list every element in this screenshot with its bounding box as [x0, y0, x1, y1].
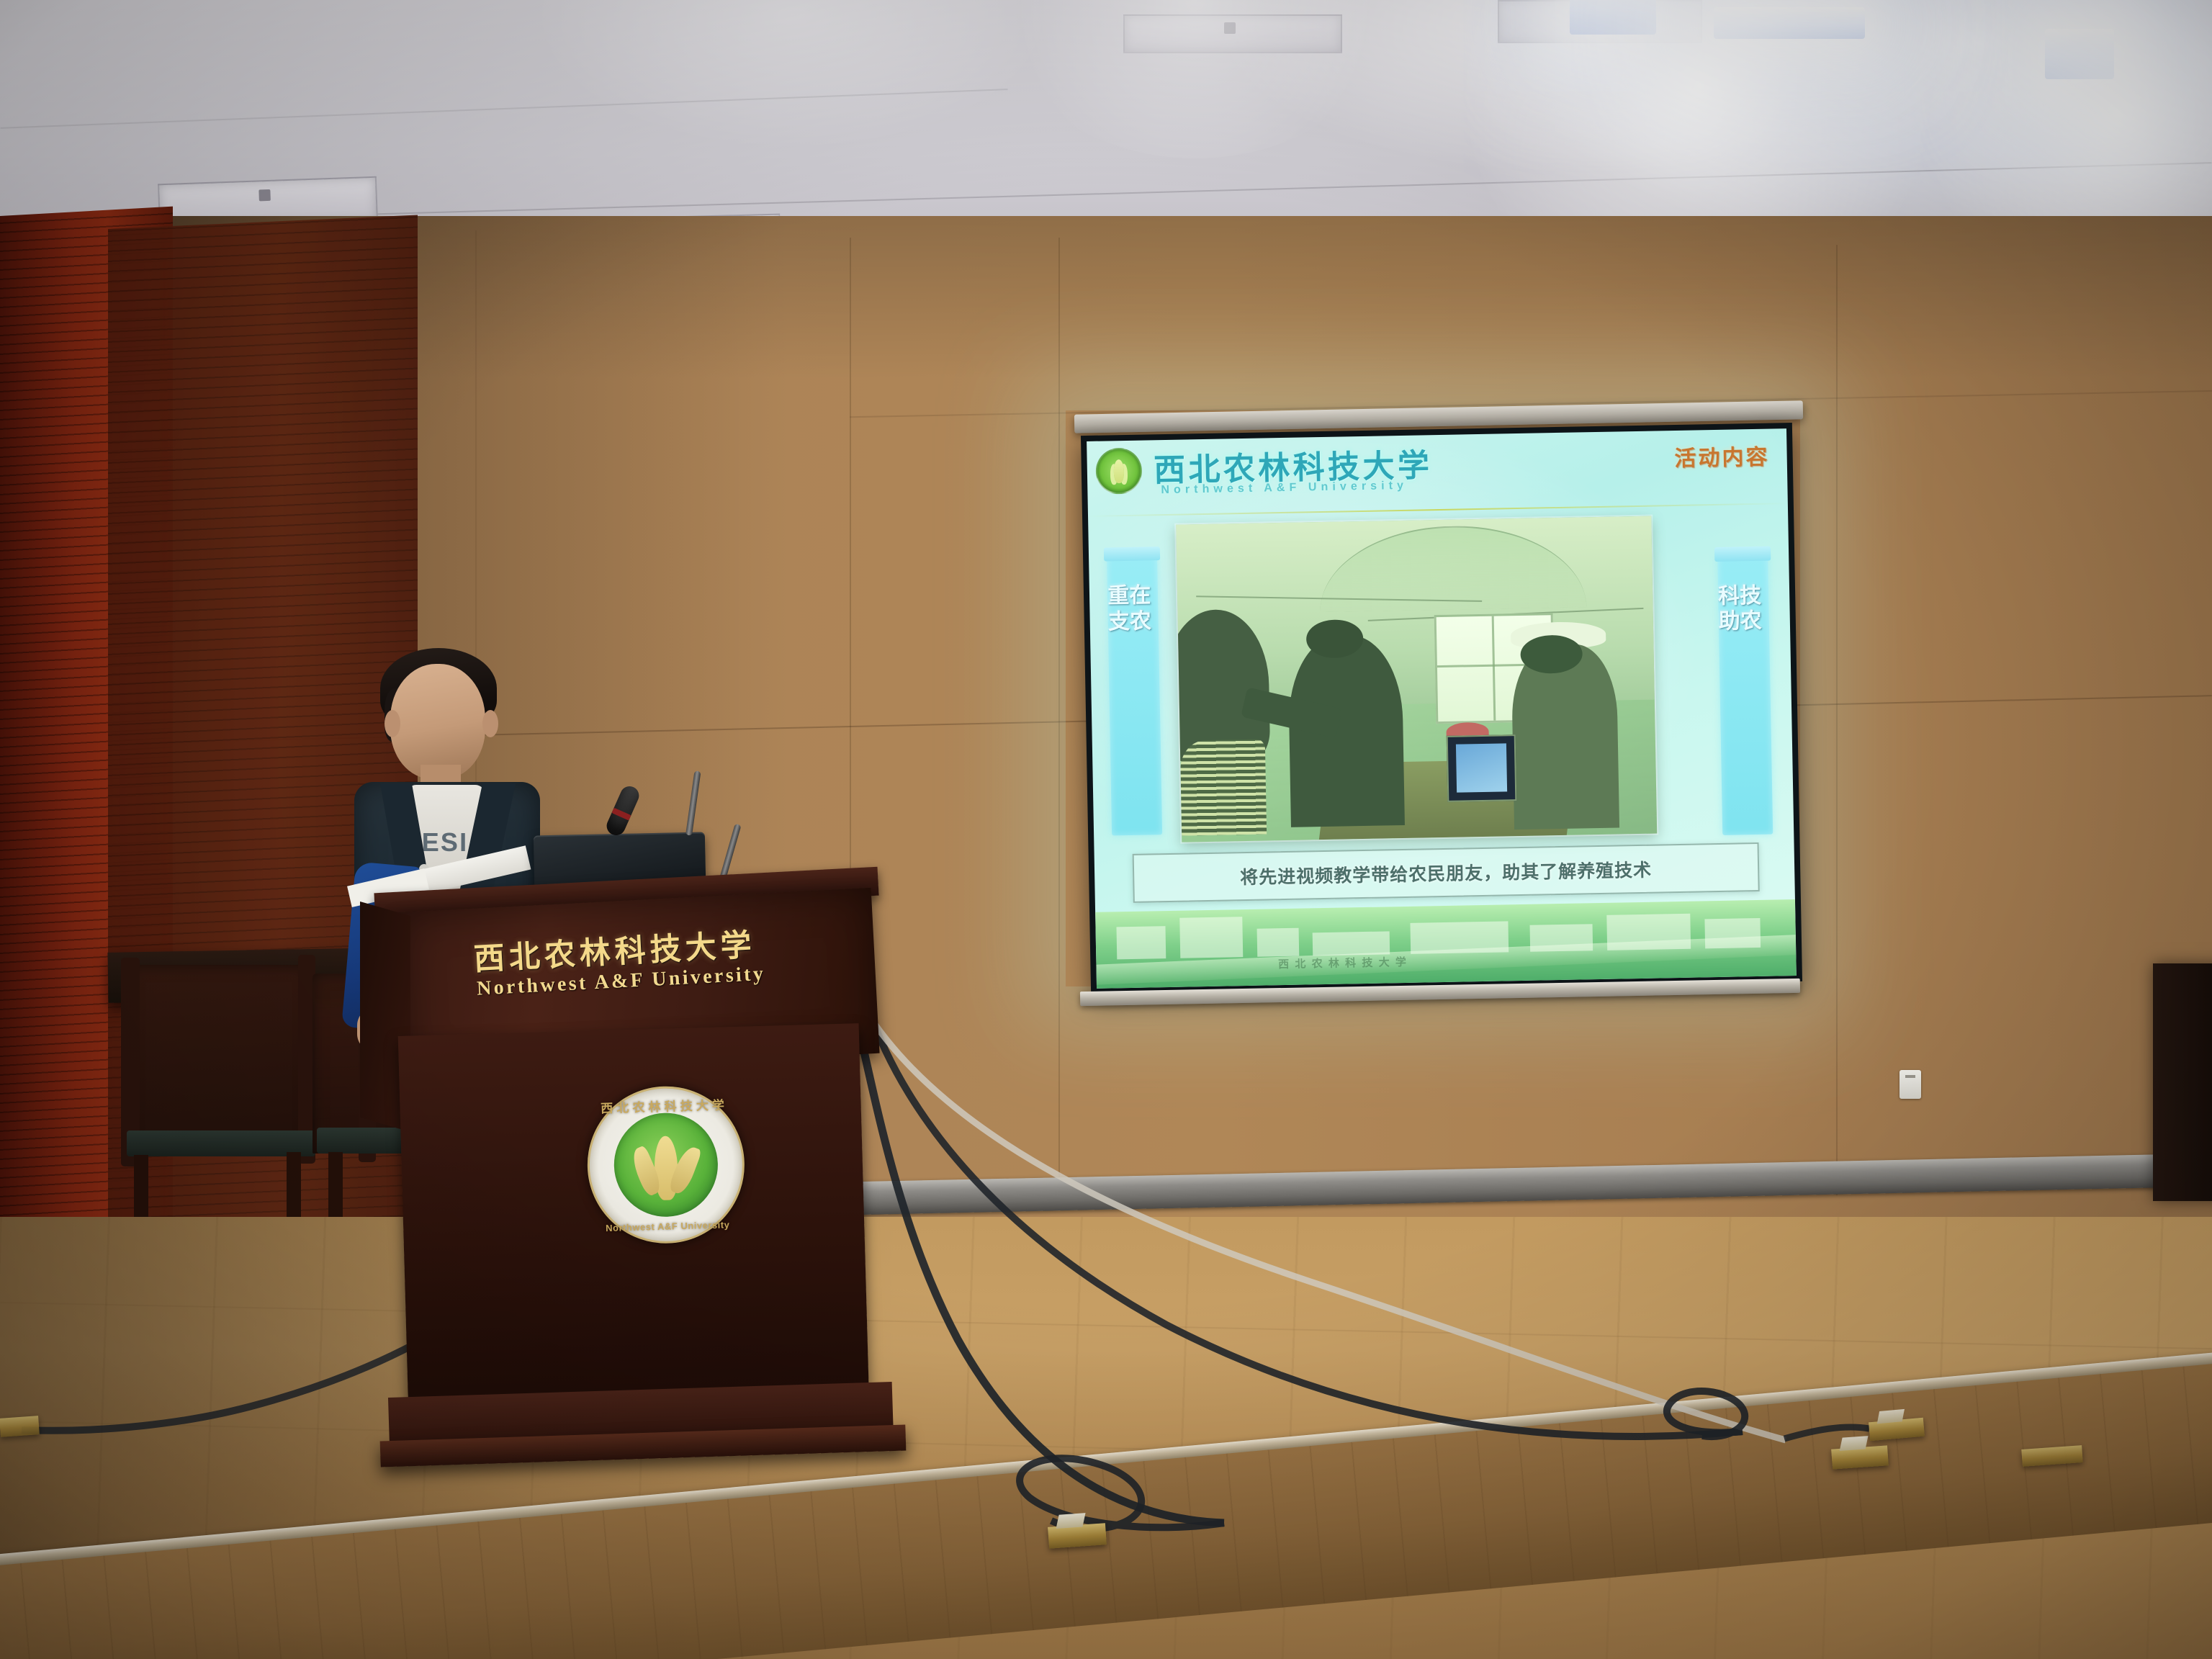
projector-screen-frame: 西北农林科技大学 Northwest A&F University 活动内容 重…: [1081, 423, 1802, 994]
emblem-text-en: Northwest A&F University: [591, 1219, 744, 1234]
speaker-ear: [482, 710, 498, 737]
projected-slide: 西北农林科技大学 Northwest A&F University 活动内容 重…: [1087, 428, 1797, 989]
wall-panel-line: [1836, 245, 1838, 1195]
university-logo-icon: [1095, 447, 1142, 494]
floor-outlet-box[interactable]: [1831, 1445, 1889, 1469]
wall-panel-line: [1058, 238, 1060, 1195]
podium-body: 西北农林科技大学 Northwest A&F University: [398, 1023, 870, 1418]
floor-outlet-box[interactable]: [0, 1416, 40, 1437]
slide-footer-panorama: 西北农林科技大学: [1095, 899, 1797, 989]
wheat-icon: [654, 1136, 678, 1200]
right-edge-furniture: [2153, 963, 2212, 1201]
floor-outlet-box[interactable]: [1048, 1523, 1107, 1549]
podium-emblem: 西北农林科技大学 Northwest A&F University: [585, 1084, 747, 1246]
wall-outlet-plate[interactable]: [1899, 1070, 1921, 1099]
ceiling-vent: [1123, 14, 1342, 53]
chair[interactable]: [128, 965, 310, 1152]
ceiling-light: [1714, 7, 1865, 39]
slide-caption: 将先进视频教学带给农民朋友，助其了解养殖技术: [1133, 842, 1759, 904]
emblem-disc: [613, 1112, 719, 1218]
slide-photo: [1176, 516, 1658, 842]
slide-banner-right: 科技助农: [1717, 554, 1773, 835]
speaker-head: [390, 664, 485, 779]
lecture-hall-scene: 西北农林科技大学 Northwest A&F University 活动内容 重…: [0, 0, 2212, 1659]
slide-header: 西北农林科技大学 Northwest A&F University 活动内容: [1087, 428, 1788, 513]
speaker-ear: [385, 710, 400, 737]
ceiling-light: [2045, 29, 2114, 79]
slide-banner-left: 重在支农: [1107, 555, 1162, 836]
ceiling-light: [1570, 0, 1656, 35]
slide-footer-text: 西北农林科技大学: [1278, 954, 1412, 971]
slide-section-title: 活动内容: [1674, 439, 1770, 472]
